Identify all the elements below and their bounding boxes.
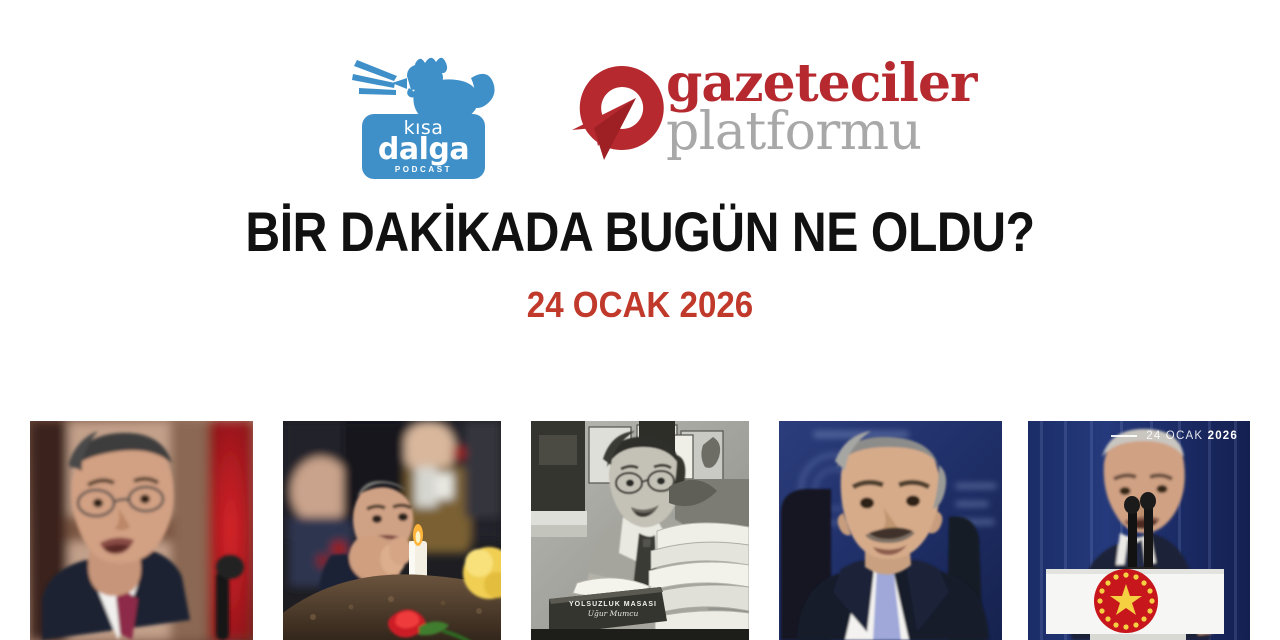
photo-1-image (30, 421, 253, 640)
page-date: 24 OCAK 2026 (51, 284, 1229, 326)
photo-2-image (283, 421, 501, 640)
kisa-dalga-badge: kısa dalga PODCAST (362, 114, 485, 179)
photo-archive-desk-bw[interactable]: YOLSUZLUK MASASI Uğur Mumcu (531, 421, 749, 640)
kisa-dalga-dalga-text: dalga (362, 134, 485, 166)
photo-candle-at-grave[interactable] (283, 421, 501, 640)
logo-row: kısa dalga PODCAST gazeteciler platformu (0, 48, 1280, 188)
kisa-dalga-podcast-text: PODCAST (362, 165, 485, 174)
overlay-dash (1111, 435, 1137, 437)
photo-president-at-lectern[interactable]: 24 OCAK 2026 (1028, 421, 1250, 640)
gazeteciler-platformu-logo[interactable]: gazeteciler platformu (570, 56, 930, 176)
page-title: BİR DAKİKADA BUGÜN NE OLDU? (90, 199, 1191, 264)
overlay-date-bold: 2026 (1208, 430, 1238, 442)
photo-5-image (1028, 421, 1250, 640)
paper-plane-circle-icon (570, 60, 675, 165)
photo-4-image (779, 421, 1002, 640)
photo-official-blue-backdrop[interactable] (779, 421, 1002, 640)
photo-3-image (531, 421, 749, 640)
photo-politician-at-podium[interactable] (30, 421, 253, 640)
gazeteciler-platformu-wordmark: gazeteciler platformu (666, 56, 936, 158)
platformu-text: platformu (666, 106, 936, 158)
kisa-dalga-podcast-logo[interactable]: kısa dalga PODCAST (345, 52, 495, 192)
photo-strip: YOLSUZLUK MASASI Uğur Mumcu (0, 421, 1280, 640)
overlay-date-light: 24 OCAK (1146, 430, 1203, 442)
photo-overlay-date: 24 OCAK 2026 (1111, 430, 1238, 442)
